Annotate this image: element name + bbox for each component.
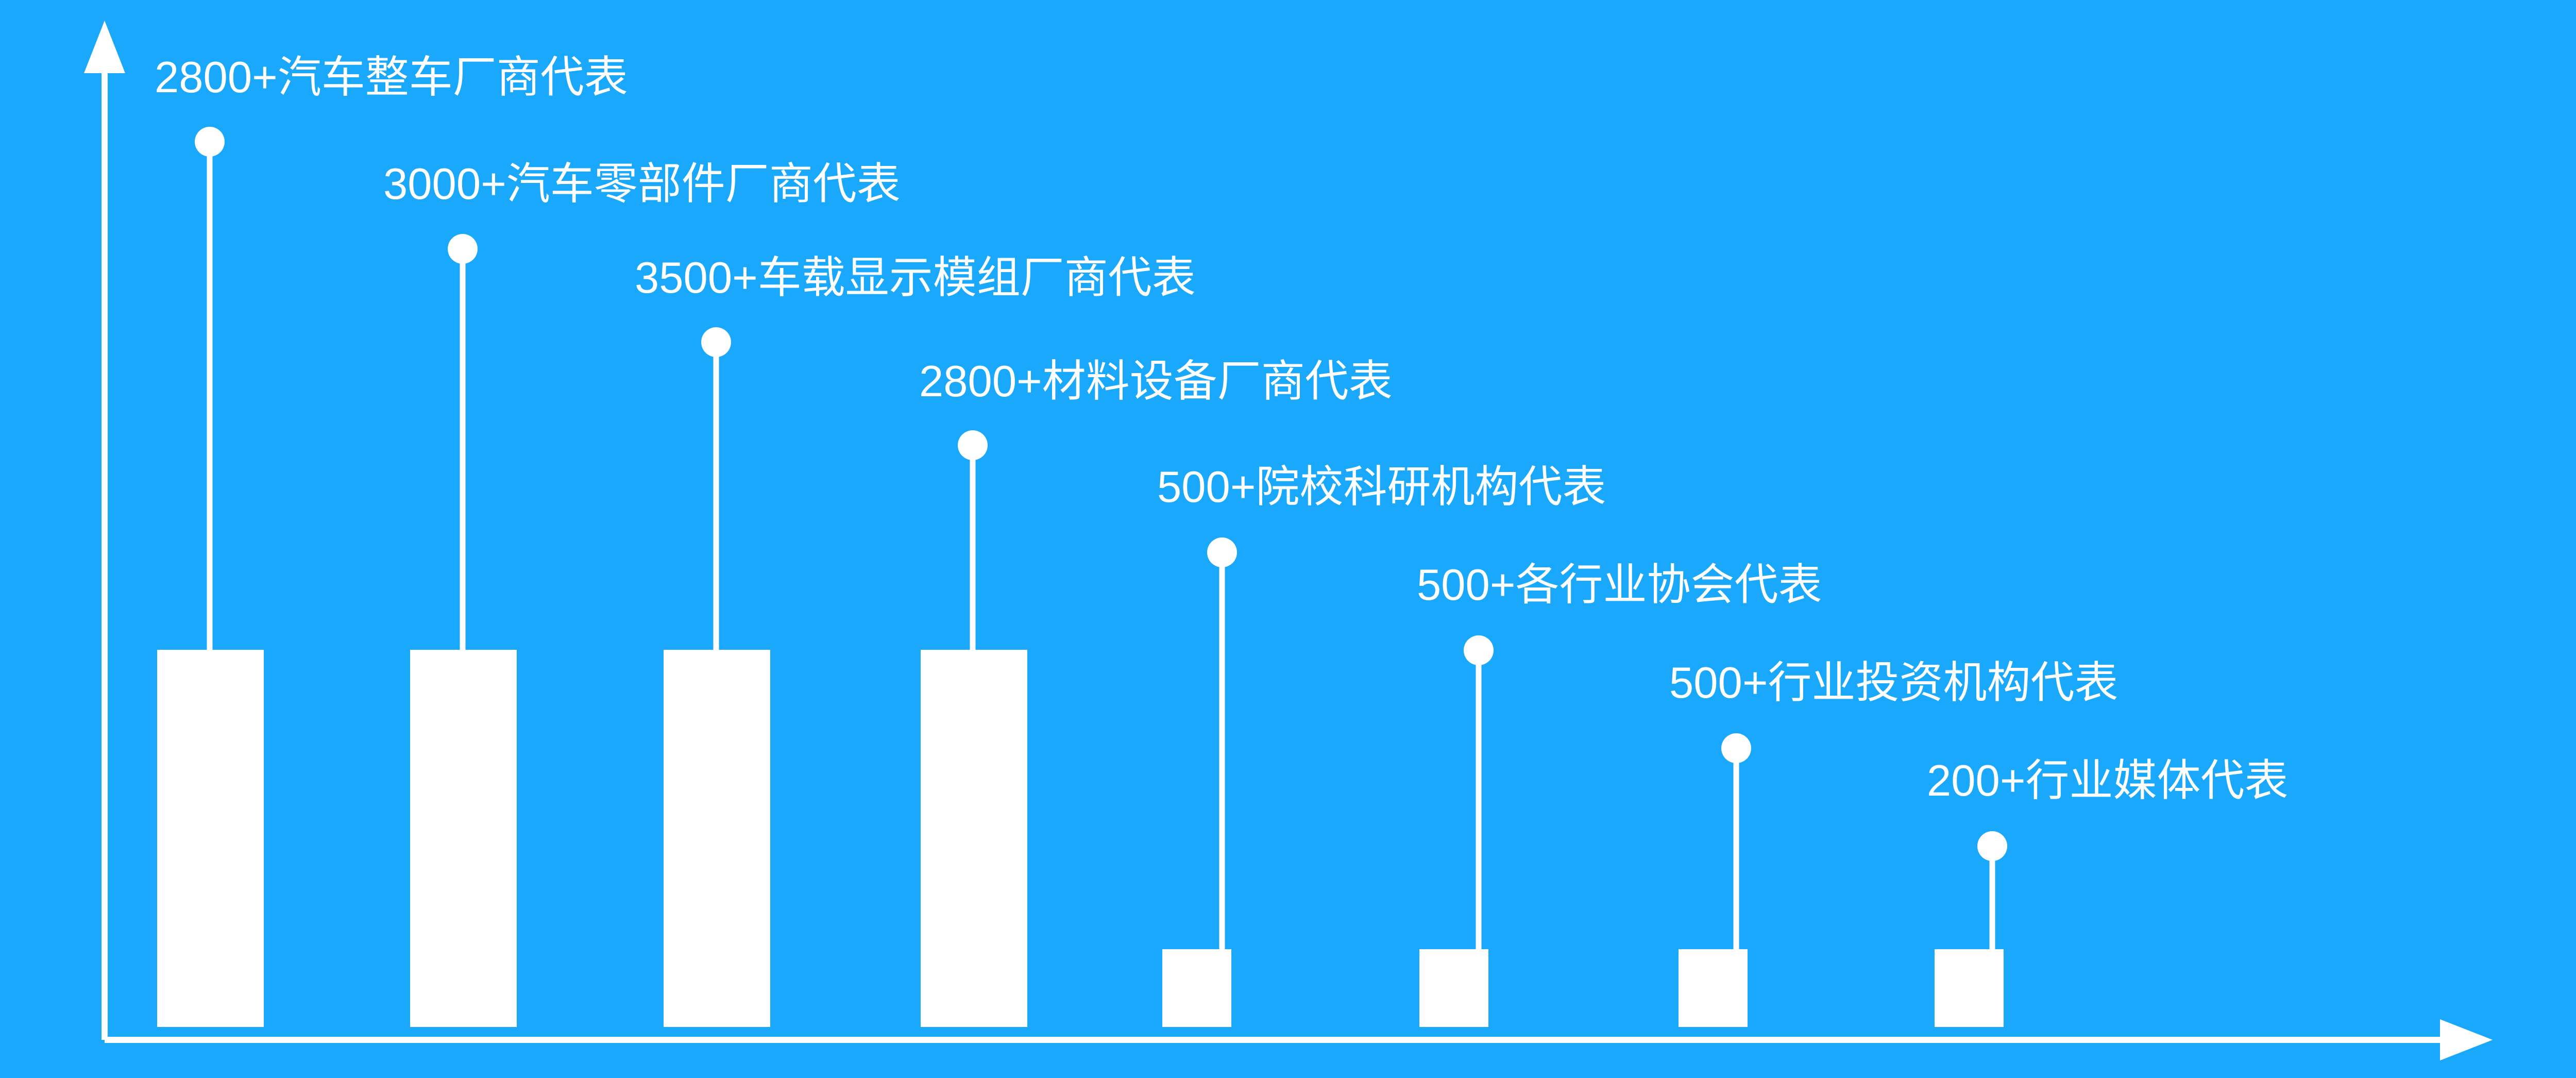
bar-media xyxy=(1935,949,2004,1027)
marker-media-dot xyxy=(1977,831,2007,861)
annotation-label-3: 3500+车载显示模组厂商代表 xyxy=(635,256,1196,300)
annotation-label-2: 3000+汽车零部件厂商代表 xyxy=(383,162,901,206)
bar-academic xyxy=(1162,949,1231,1027)
annotation-label-7: 500+行业投资机构代表 xyxy=(1669,661,2118,705)
marker-auto-parts-dot xyxy=(448,234,478,264)
annotation-label-6: 500+各行业协会代表 xyxy=(1417,563,1822,607)
y-axis-arrow-icon xyxy=(84,21,125,73)
annotation-label-1: 2800+汽车整车厂商代表 xyxy=(155,56,628,99)
bar-display-module xyxy=(664,650,770,1027)
x-axis-arrow-icon xyxy=(2440,1019,2493,1060)
bar-associations xyxy=(1419,949,1488,1027)
marker-investors-dot xyxy=(1721,733,1751,763)
marker-auto-oem-dot xyxy=(195,127,225,157)
marker-associations-dot xyxy=(1464,635,1494,665)
bar-investors xyxy=(1679,949,1748,1027)
annotation-label-4: 2800+材料设备厂商代表 xyxy=(919,360,1393,403)
marker-academic-dot xyxy=(1207,537,1237,567)
bar-auto-oem xyxy=(157,650,264,1027)
chart-canvas: 2800+汽车整车厂商代表3000+汽车零部件厂商代表3500+车载显示模组厂商… xyxy=(0,0,2576,1078)
bar-material-equip xyxy=(921,650,1027,1027)
annotation-label-5: 500+院校科研机构代表 xyxy=(1157,465,1606,509)
annotation-label-8: 200+行业媒体代表 xyxy=(1927,759,2288,803)
marker-display-module-dot xyxy=(701,327,731,357)
bar-auto-parts xyxy=(410,650,517,1027)
marker-material-equip-dot xyxy=(958,430,988,460)
